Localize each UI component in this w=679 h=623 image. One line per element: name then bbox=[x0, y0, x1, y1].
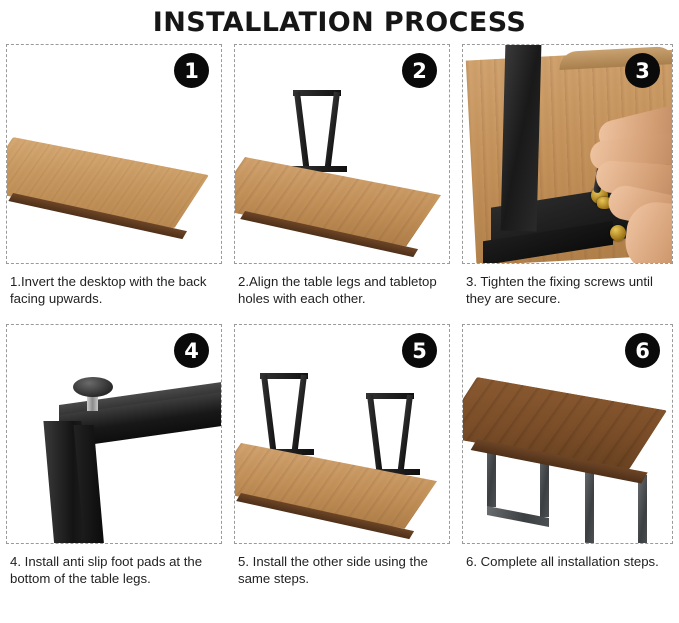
step-badge-6: 6 bbox=[625, 333, 660, 368]
step-panel-5: 5 bbox=[234, 324, 450, 544]
table-leg-frame-right bbox=[363, 393, 417, 475]
step-cell-6: 6 6. Complete all install bbox=[456, 324, 679, 603]
step-cell-3: 3 bbox=[456, 44, 679, 324]
installation-instruction-sheet: INSTALLATION PROCESS 1 1.Invert the desk… bbox=[0, 0, 679, 623]
step-caption-4: 4. Install anti slip foot pads at the bo… bbox=[6, 544, 222, 587]
step-panel-6: 6 bbox=[462, 324, 673, 544]
step-caption-5: 5. Install the other side using the same… bbox=[234, 544, 450, 587]
step-cell-5: 5 bbox=[228, 324, 456, 603]
leg-right-bar bbox=[638, 475, 647, 544]
step-cell-4: 4 4. Install anti slip foot pads at the … bbox=[0, 324, 228, 603]
steps-grid: 1 1.Invert the desktop with the back fac… bbox=[0, 44, 679, 603]
leg-right-bar bbox=[291, 375, 307, 455]
step-caption-6: 6. Complete all installation steps. bbox=[462, 544, 673, 570]
leg-left-bar bbox=[261, 375, 277, 455]
leg-left-bar bbox=[367, 395, 383, 475]
step-panel-3: 3 bbox=[462, 44, 673, 264]
step-panel-1: 1 bbox=[6, 44, 222, 264]
step-cell-1: 1 1.Invert the desktop with the back fac… bbox=[0, 44, 228, 324]
page-title: INSTALLATION PROCESS bbox=[0, 0, 679, 44]
step-panel-4: 4 bbox=[6, 324, 222, 544]
step-caption-2: 2.Align the table legs and tabletop hole… bbox=[234, 264, 450, 307]
leg-right-bar bbox=[324, 92, 340, 172]
table-leg-frame-left bbox=[257, 373, 311, 455]
step-caption-1: 1.Invert the desktop with the back facin… bbox=[6, 264, 222, 307]
step-cell-2: 2 2.Align the table legs and tabletop ho… bbox=[228, 44, 456, 324]
step-badge-3: 3 bbox=[625, 53, 660, 88]
leg-post bbox=[501, 44, 542, 231]
leg-left-bar bbox=[294, 92, 310, 172]
step-caption-3: 3. Tighten the fixing screws until they … bbox=[462, 264, 673, 307]
hand-illustration bbox=[574, 107, 673, 264]
step-panel-2: 2 bbox=[234, 44, 450, 264]
table-leg-frame bbox=[290, 90, 344, 172]
leg-right-bar bbox=[397, 395, 413, 475]
step-badge-2: 2 bbox=[402, 53, 437, 88]
anti-slip-foot-pad bbox=[73, 377, 113, 397]
step-badge-5: 5 bbox=[402, 333, 437, 368]
step-badge-4: 4 bbox=[174, 333, 209, 368]
step-badge-1: 1 bbox=[174, 53, 209, 88]
